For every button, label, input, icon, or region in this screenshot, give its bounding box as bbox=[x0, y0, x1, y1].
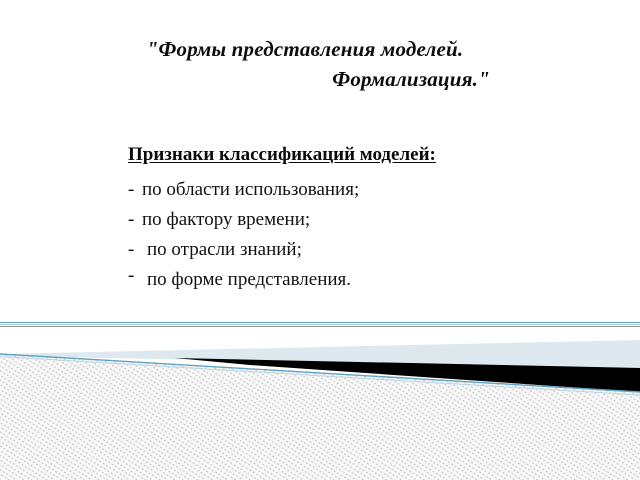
slide-body: Признаки классификаций моделей: - по обл… bbox=[128, 142, 548, 295]
classification-list: - по области использования; - по фактору… bbox=[128, 175, 548, 295]
list-item: - по отрасли знаний; bbox=[128, 235, 548, 265]
bullet-dash-icon: - bbox=[128, 175, 142, 205]
bullet-dash-icon: - bbox=[128, 261, 142, 291]
title-line-2: Формализация." bbox=[120, 64, 490, 94]
content-heading: Признаки классификаций моделей: bbox=[128, 142, 548, 168]
footer-decoration bbox=[0, 318, 640, 480]
presentation-slide: "Формы представления моделей. Формализац… bbox=[0, 0, 640, 480]
list-item: - по форме представления. bbox=[128, 265, 548, 295]
slide-title: "Формы представления моделей. Формализац… bbox=[120, 34, 490, 94]
list-item: - по фактору времени; bbox=[128, 205, 548, 235]
footer-wedge-graphic bbox=[0, 318, 640, 480]
list-item: - по области использования; bbox=[128, 175, 548, 205]
list-item-label: по фактору времени; bbox=[142, 205, 310, 235]
list-item-label: по форме представления. bbox=[142, 265, 351, 295]
list-item-label: по области использования; bbox=[142, 175, 359, 205]
bullet-dash-icon: - bbox=[128, 205, 142, 235]
title-line-1: "Формы представления моделей. bbox=[120, 34, 490, 64]
list-item-label: по отрасли знаний; bbox=[142, 235, 302, 265]
